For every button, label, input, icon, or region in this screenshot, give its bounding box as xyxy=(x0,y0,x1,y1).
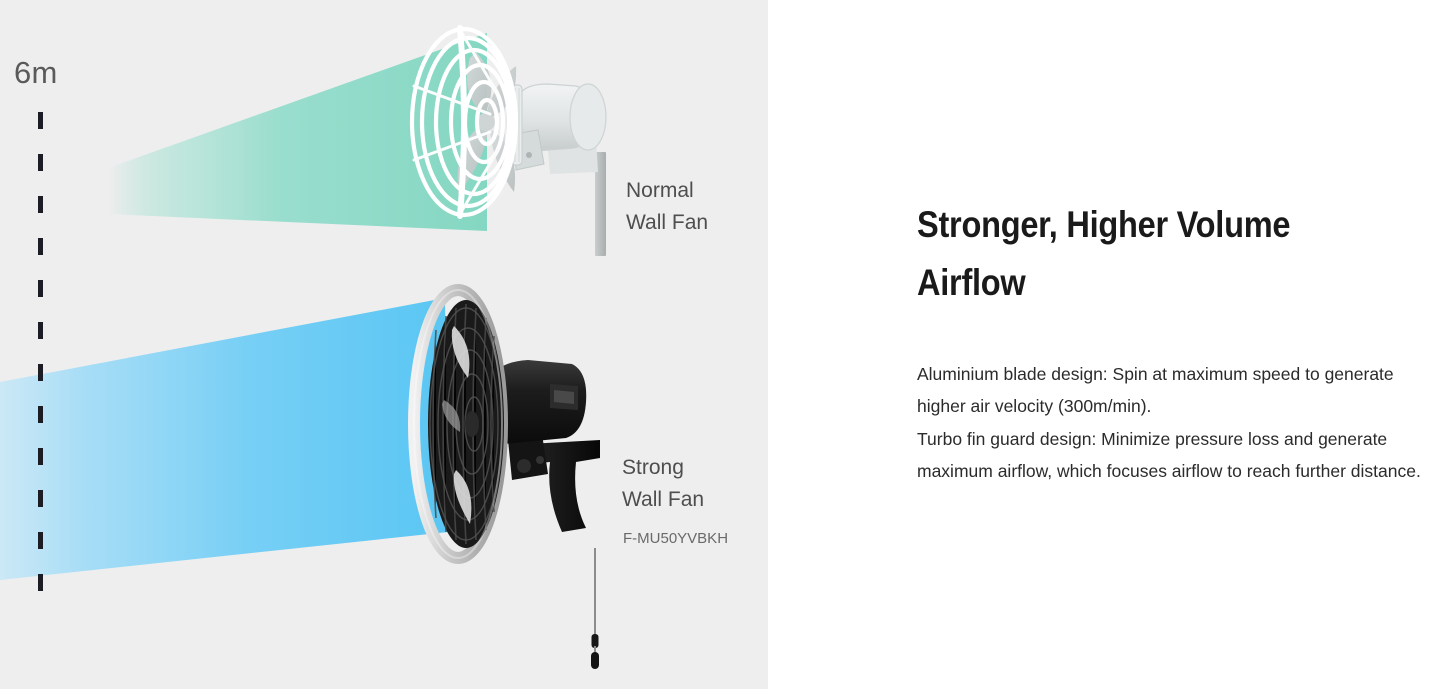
strong-fan-model-number: F-MU50YVBKH xyxy=(623,529,728,549)
normal-wall-fan-illustration xyxy=(398,22,628,237)
strong-fan-caption-line2: Wall Fan xyxy=(622,484,704,516)
normal-fan-caption-line1: Normal xyxy=(626,175,708,207)
fan-pull-cord xyxy=(588,548,602,673)
strong-fan-caption-line1: Strong xyxy=(622,452,704,484)
normal-fan-caption: Normal Wall Fan xyxy=(626,175,708,239)
feature-copy-panel: Stronger, Higher Volume Airflow Aluminiu… xyxy=(768,0,1445,689)
feature-description-paragraph-1: Aluminium blade design: Spin at maximum … xyxy=(917,358,1445,423)
product-feature-section: Normal Wall Fan Strong Wall Fan F-MU50YV… xyxy=(0,0,1445,689)
feature-description-paragraph-2: Turbo fin guard design: Minimize pressur… xyxy=(917,423,1445,488)
feature-headline: Stronger, Higher Volume Airflow xyxy=(917,196,1331,312)
airflow-comparison-illustration: Normal Wall Fan Strong Wall Fan F-MU50YV… xyxy=(0,0,768,689)
strong-fan-caption: Strong Wall Fan xyxy=(622,452,704,516)
normal-fan-caption-line2: Wall Fan xyxy=(626,207,708,239)
feature-description: Aluminium blade design: Spin at maximum … xyxy=(917,358,1445,488)
strong-wall-fan-illustration xyxy=(400,282,630,572)
distance-marker-label: 6m xyxy=(14,57,58,88)
distance-reference-dashed-line xyxy=(38,112,43,610)
